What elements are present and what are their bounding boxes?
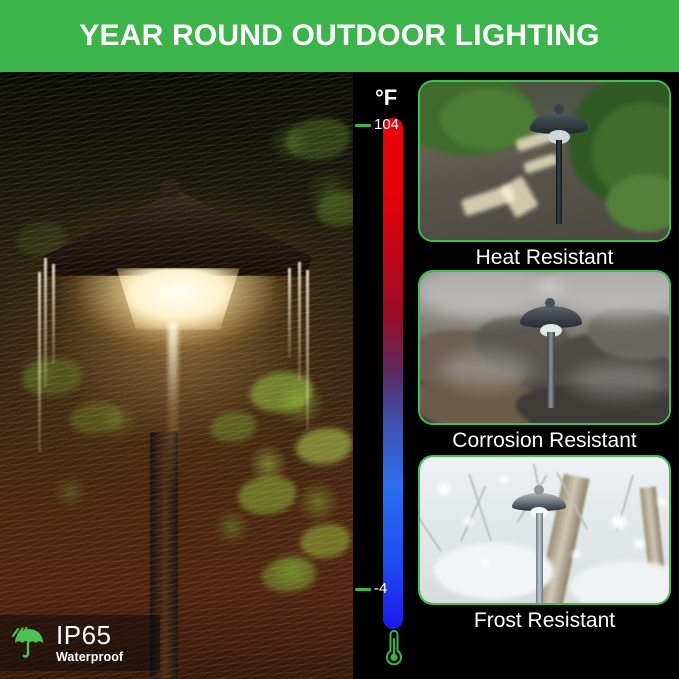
- path-light-finial: [554, 104, 564, 114]
- branch: [418, 506, 442, 552]
- tick-mark-high: [355, 124, 371, 127]
- frost-scene: [420, 457, 669, 603]
- feature-image-frame: [418, 455, 671, 605]
- temperature-unit-label: °F: [375, 85, 397, 111]
- product-feature-graphic: YEAR ROUND OUTDOOR LIGHTING: [0, 0, 679, 679]
- tick-label-low: -4: [374, 580, 387, 597]
- path-light-finial: [534, 485, 544, 495]
- corrosion-scene: [420, 272, 669, 423]
- tick-mark-low: [355, 588, 371, 591]
- feature-panel-list: Heat Resistant: [410, 72, 679, 679]
- snowflake: [438, 483, 450, 495]
- snowflake: [658, 497, 667, 506]
- page-title: YEAR ROUND OUTDOOR LIGHTING: [79, 19, 599, 53]
- thermometer-icon: [383, 628, 405, 671]
- mist: [570, 364, 666, 398]
- rain-spray-overlay: [0, 72, 353, 679]
- path-light-stem: [536, 513, 543, 603]
- feature-panel-frost: Frost Resistant: [418, 455, 671, 633]
- feature-panel-heat: Heat Resistant: [418, 80, 671, 270]
- hero-photo: IP65 Waterproof: [0, 72, 353, 679]
- snowflake: [634, 539, 644, 549]
- snowflake: [482, 559, 489, 566]
- ip65-waterproof-badge: IP65 Waterproof: [0, 615, 160, 671]
- waterproof-label: Waterproof: [56, 651, 123, 664]
- feature-caption: Frost Resistant: [414, 609, 675, 633]
- temperature-scale: °F 104 -4: [353, 72, 410, 679]
- snowflake: [572, 551, 580, 559]
- snowflake: [612, 515, 626, 529]
- ip-rating-label: IP65: [56, 622, 123, 648]
- snowflake: [464, 517, 473, 526]
- header-banner: YEAR ROUND OUTDOOR LIGHTING: [0, 0, 679, 72]
- feature-image-frame: [418, 270, 671, 425]
- path-light-stem: [547, 332, 555, 408]
- snow-mound: [570, 561, 671, 605]
- path-light-stem: [556, 140, 562, 224]
- mist: [440, 352, 530, 388]
- path-light-finial: [545, 298, 555, 308]
- feature-image-frame: [418, 80, 671, 242]
- umbrella-icon: [10, 624, 48, 662]
- branch: [468, 474, 492, 541]
- temperature-gradient-bar: [383, 118, 403, 629]
- snowflake: [500, 475, 508, 483]
- heat-scene: [420, 82, 669, 240]
- feature-caption: Corrosion Resistant: [414, 429, 675, 453]
- feature-panel-corrosion: Corrosion Resistant: [418, 270, 671, 453]
- feature-caption: Heat Resistant: [414, 246, 675, 270]
- tick-label-high: 104: [374, 116, 399, 133]
